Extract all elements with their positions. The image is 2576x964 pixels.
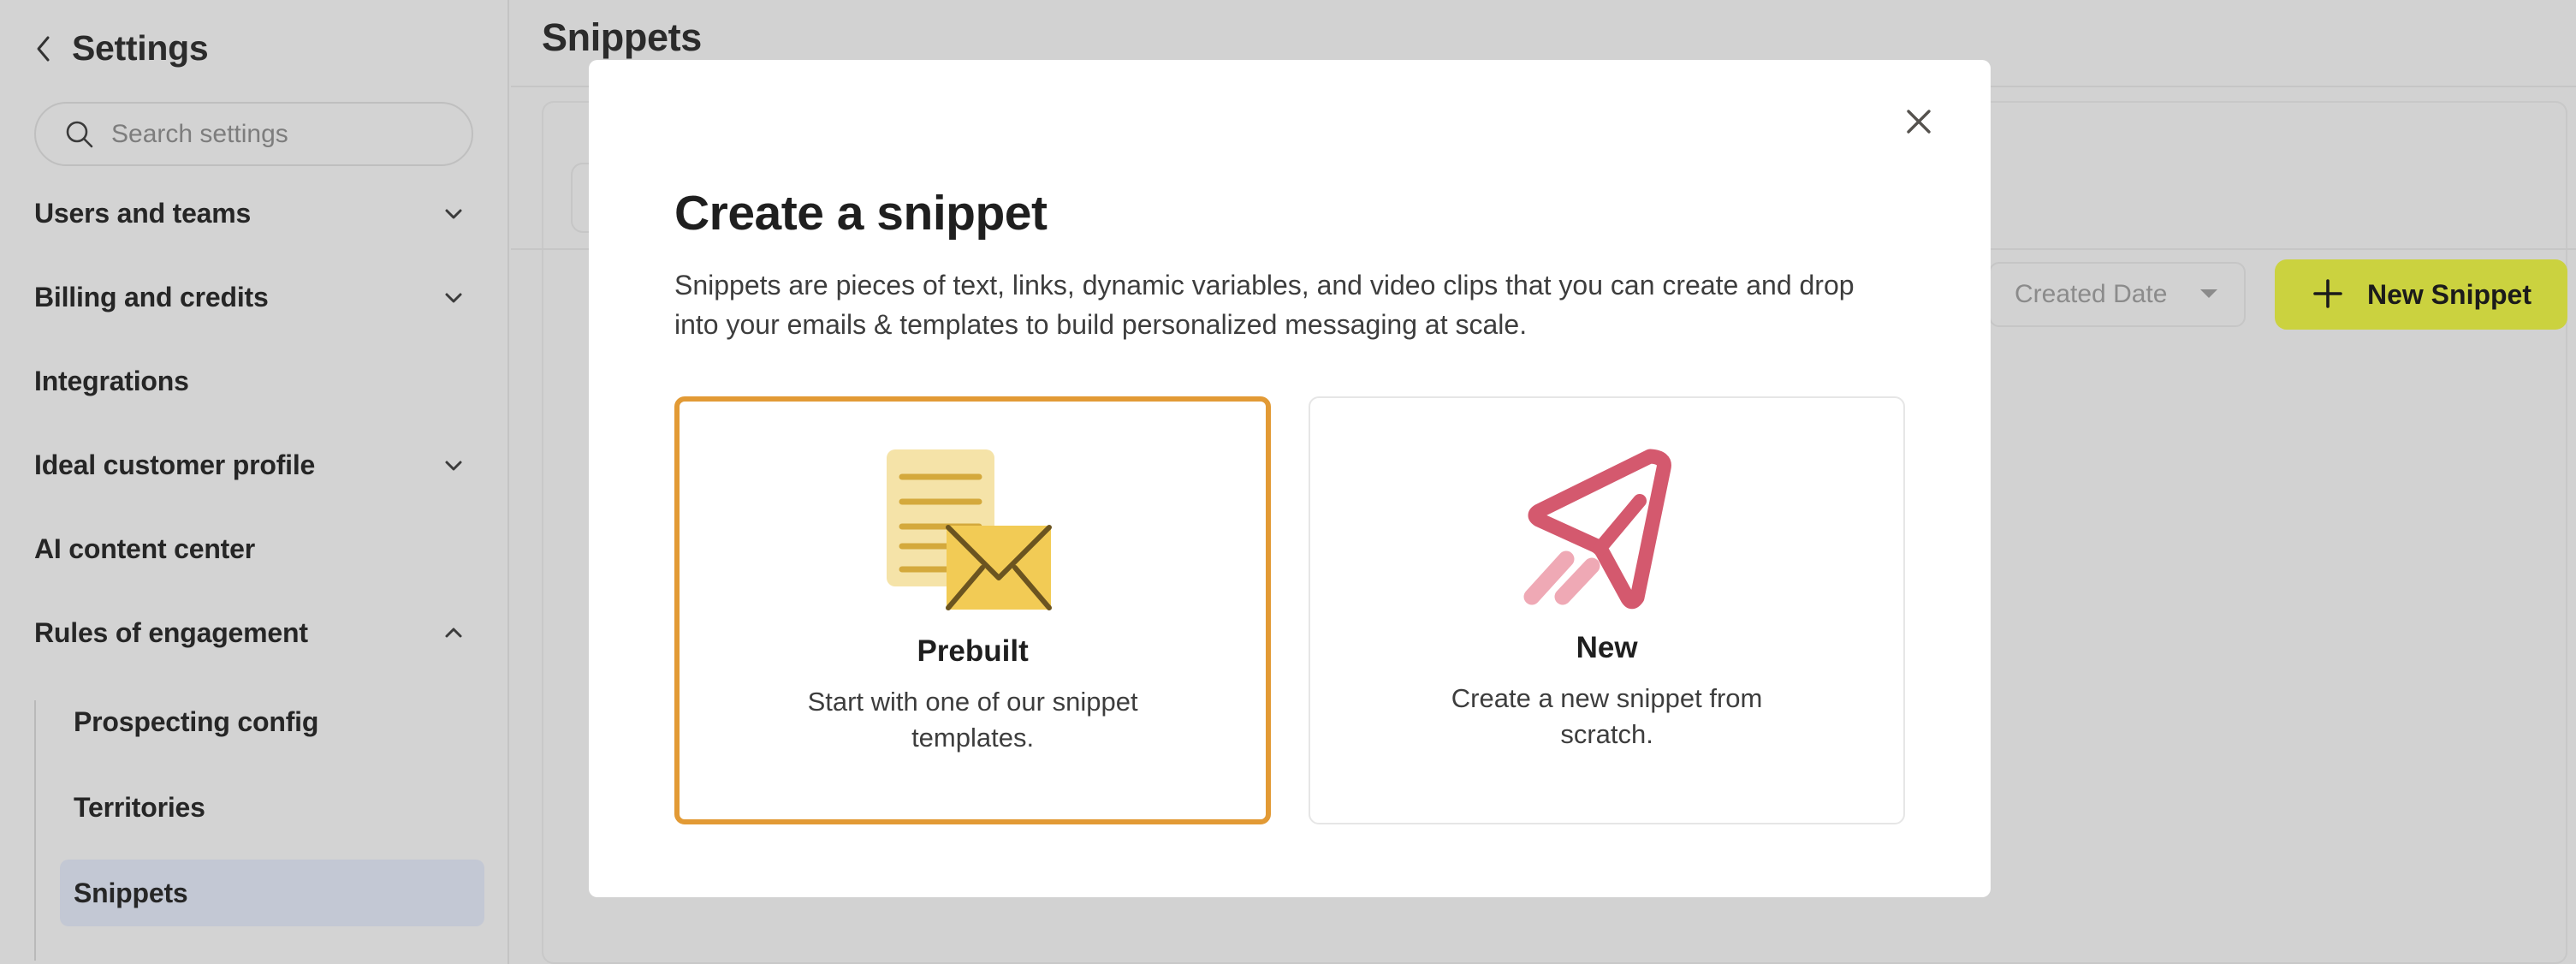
chevron-up-icon[interactable] — [441, 620, 466, 646]
chevron-down-icon[interactable] — [441, 452, 466, 478]
sidebar-item-users-and-teams[interactable]: Users and teams — [0, 185, 507, 241]
chevron-down-icon — [2196, 284, 2222, 306]
app-root: Settings Users and teams — [0, 0, 2576, 964]
modal-title: Create a snippet — [674, 188, 1905, 240]
sidebar-subitem-label: Territories — [74, 792, 205, 824]
search-icon — [63, 118, 96, 151]
document-envelope-icon — [680, 432, 1266, 628]
sidebar-item-label: Billing and credits — [34, 282, 269, 313]
sort-dropdown[interactable]: Created Date — [1989, 262, 2246, 327]
option-card-subtext: Create a new snippet from scratch. — [1402, 681, 1813, 754]
sidebar-item-label: Integrations — [34, 366, 189, 397]
option-card-prebuilt[interactable]: Prebuilt Start with one of our snippet t… — [674, 396, 1271, 824]
sidebar-item-ai-content-center[interactable]: AI content center — [0, 521, 507, 577]
sidebar-subgroup-rules-of-engagement: Prospecting config Territories Snippets — [0, 688, 507, 926]
modal-body: Create a snippet Snippets are pieces of … — [589, 60, 1991, 824]
sidebar-item-billing-and-credits[interactable]: Billing and credits — [0, 269, 507, 325]
sidebar-item-prospecting-config[interactable]: Prospecting config — [60, 688, 484, 755]
search-settings-wrapper — [34, 102, 473, 166]
chevron-down-icon[interactable] — [441, 284, 466, 310]
sidebar-item-territories[interactable]: Territories — [60, 774, 484, 841]
plus-icon — [2311, 277, 2345, 313]
sidebar-item-label: Users and teams — [34, 198, 251, 229]
sidebar-item-label: Rules of engagement — [34, 617, 308, 649]
sidebar-item-ideal-customer-profile[interactable]: Ideal customer profile — [0, 437, 507, 493]
sidebar-subitem-label: Snippets — [74, 878, 188, 909]
sort-dropdown-label: Created Date — [2015, 280, 2167, 309]
close-icon[interactable] — [1895, 98, 1943, 146]
new-snippet-button-label: New Snippet — [2367, 279, 2531, 311]
modal-description: Snippets are pieces of text, links, dyna… — [674, 265, 1905, 345]
sidebar-item-integrations[interactable]: Integrations — [0, 353, 507, 409]
sidebar-item-snippets[interactable]: Snippets — [60, 860, 484, 926]
settings-nav-list: Users and teams Billing and credits Inte… — [0, 185, 507, 926]
sidebar-header: Settings — [0, 0, 507, 66]
sidebar-item-rules-of-engagement[interactable]: Rules of engagement — [0, 604, 507, 661]
option-card-heading: Prebuilt — [917, 634, 1028, 669]
option-card-heading: New — [1576, 631, 1638, 665]
chevron-down-icon[interactable] — [441, 200, 466, 226]
search-settings-box[interactable] — [34, 102, 473, 166]
snippet-type-options: Prebuilt Start with one of our snippet t… — [674, 396, 1905, 824]
sidebar-subitem-label: Prospecting config — [74, 706, 318, 738]
page-title: Settings — [72, 31, 208, 66]
option-card-new[interactable]: New Create a new snippet from scratch. — [1309, 396, 1905, 824]
new-snippet-button[interactable]: New Snippet — [2275, 259, 2567, 330]
paper-plane-icon — [1310, 429, 1903, 624]
option-card-subtext: Start with one of our snippet templates. — [768, 684, 1178, 758]
chevron-left-icon[interactable] — [34, 36, 53, 62]
sidebar-item-label: AI content center — [34, 533, 255, 565]
snippets-page-title: Snippets — [542, 15, 702, 60]
create-snippet-modal: Create a snippet Snippets are pieces of … — [589, 60, 1991, 897]
sidebar-item-label: Ideal customer profile — [34, 449, 315, 481]
search-input[interactable] — [111, 120, 394, 149]
settings-sidebar: Settings Users and teams — [0, 0, 509, 964]
